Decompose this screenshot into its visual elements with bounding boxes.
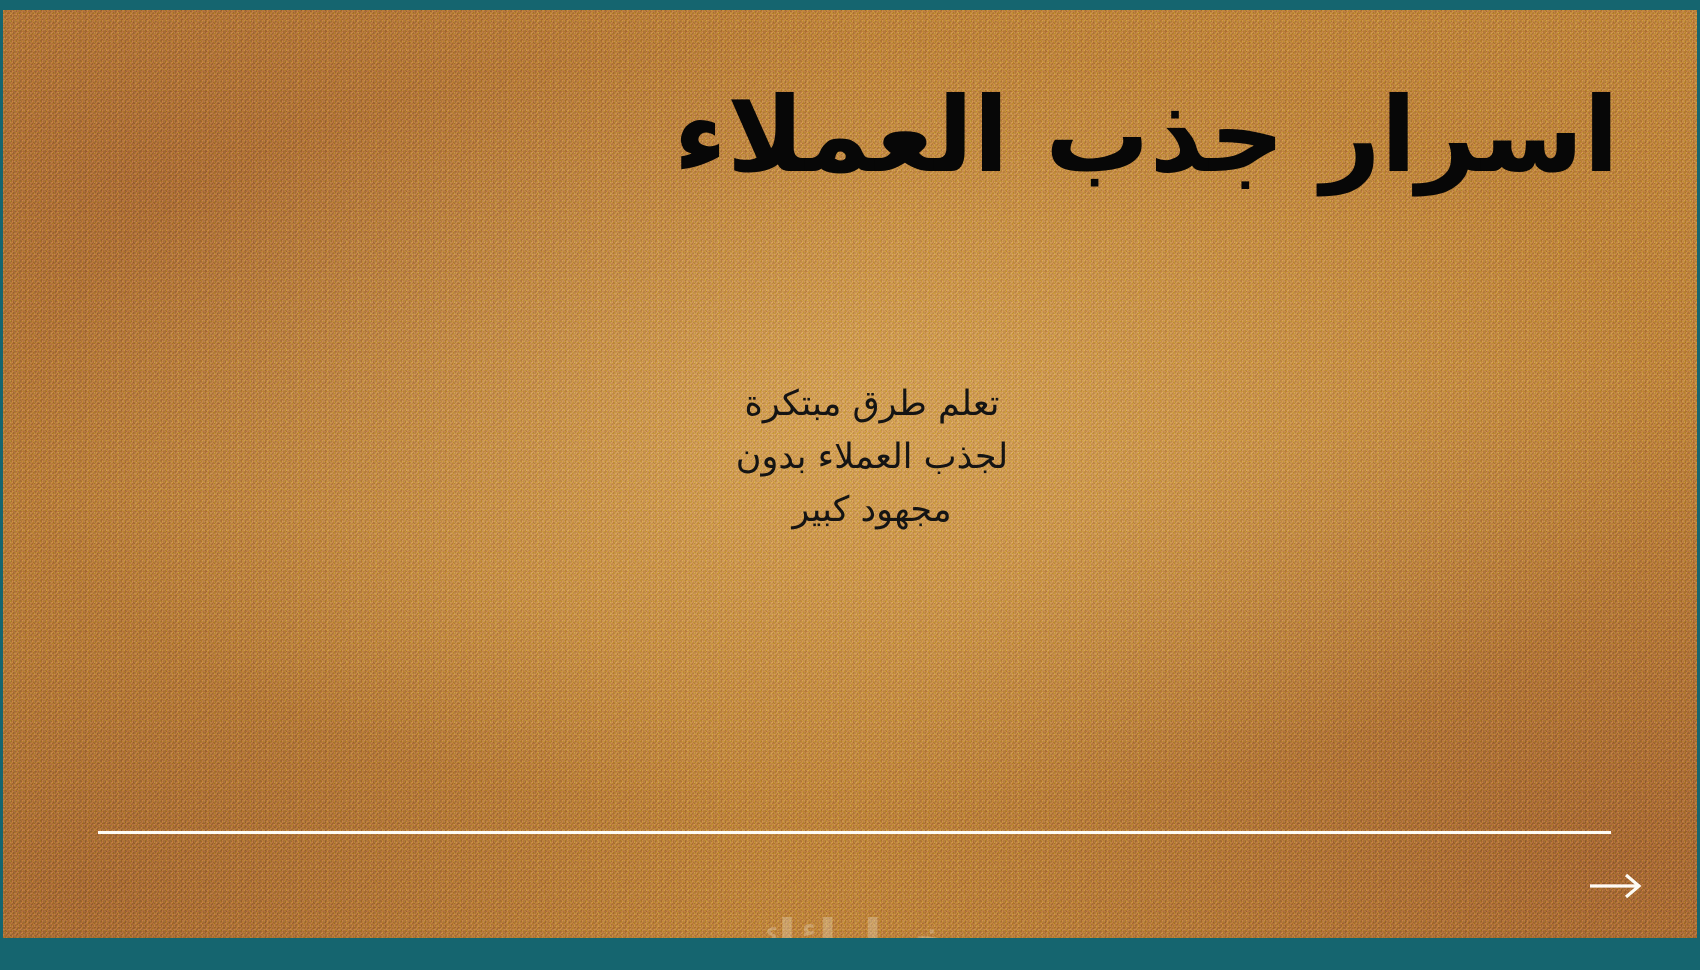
slide-content: اسرار جذب العملاء تعلم طرق مبتكرة لجذب ا… bbox=[3, 10, 1697, 938]
subtitle-line-1: تعلم طرق مبتكرة bbox=[25, 378, 1697, 431]
slide-canvas: اسرار جذب العملاء تعلم طرق مبتكرة لجذب ا… bbox=[3, 10, 1697, 938]
watermark-text: خطبائك bbox=[3, 908, 1697, 938]
presentation-slide: اسرار جذب العملاء تعلم طرق مبتكرة لجذب ا… bbox=[0, 0, 1700, 970]
subtitle-line-2: لجذب العملاء بدون bbox=[25, 431, 1697, 484]
subtitle-line-3: مجهود كبير bbox=[25, 484, 1697, 537]
arrow-right-icon[interactable] bbox=[1588, 868, 1648, 904]
horizontal-divider bbox=[98, 831, 1611, 834]
slide-title: اسرار جذب العملاء bbox=[319, 68, 1619, 203]
slide-subtitle: تعلم طرق مبتكرة لجذب العملاء بدون مجهود … bbox=[3, 378, 1697, 538]
